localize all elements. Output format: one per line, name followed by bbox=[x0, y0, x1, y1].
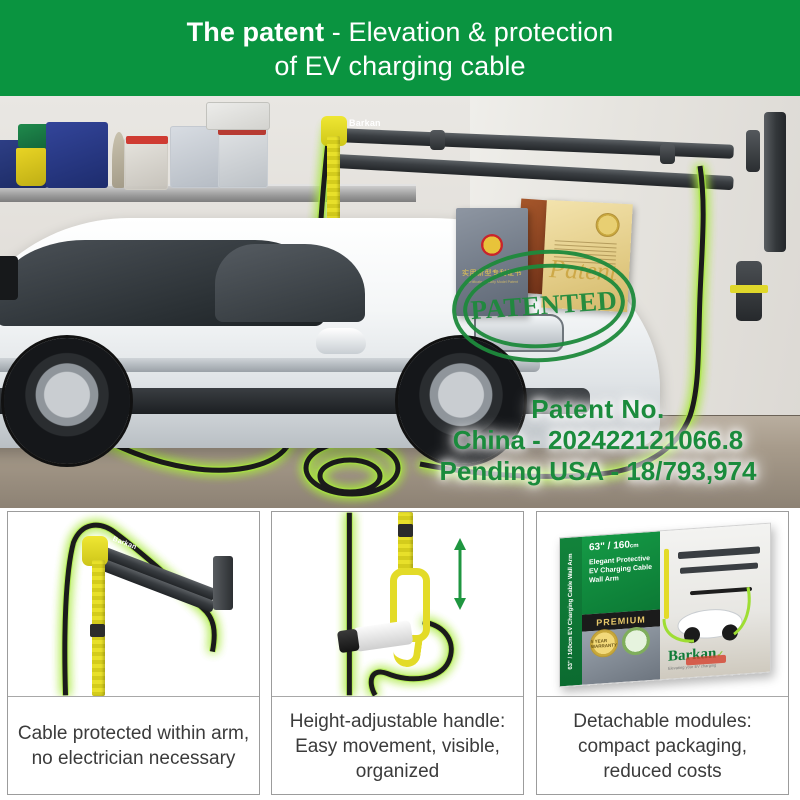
box-product-title: Elegant Protective EV Charging Cable Wal… bbox=[589, 554, 657, 586]
panel-2-image bbox=[272, 512, 523, 696]
patented-stamp-inner: PATENTED bbox=[460, 258, 628, 354]
china-emblem-icon bbox=[481, 234, 503, 256]
panel-3-caption: Detachable modules: compact packaging, r… bbox=[537, 698, 788, 794]
panel-1-wall-mount bbox=[213, 556, 233, 610]
panel-1-caption: Cable protected within arm, no electrici… bbox=[8, 698, 259, 794]
box-spine-text: 63" / 160cm EV Charging Cable Wall Arm bbox=[568, 553, 574, 670]
product-box: 63" / 160cm EV Charging Cable Wall Arm 6… bbox=[559, 523, 771, 688]
header-title-line1: The patent - Elevation & protection bbox=[187, 15, 614, 49]
header-banner: The patent - Elevation & protection of E… bbox=[0, 0, 800, 96]
clip-strap bbox=[730, 285, 768, 293]
patent-line-2: China - 202422121066.8 bbox=[400, 425, 796, 456]
feature-panels: Barkan Cable protected within arm, no el… bbox=[0, 508, 800, 800]
panel-1-image: Barkan bbox=[8, 512, 259, 696]
panel-2-connector-tip bbox=[337, 629, 360, 654]
feature-panel-3: 63" / 160cm EV Charging Cable Wall Arm 6… bbox=[536, 511, 789, 795]
box-size-imperial: 63" bbox=[589, 541, 605, 553]
box-size-metric: / 160 bbox=[605, 539, 630, 552]
panel-3-divider bbox=[537, 696, 788, 697]
poster-root: The patent - Elevation & protection of E… bbox=[0, 0, 800, 800]
patent-number-block: Patent No. China - 202422121066.8 Pendin… bbox=[400, 394, 796, 487]
header-title-line2: of EV charging cable bbox=[274, 49, 525, 83]
patent-line-3: Pending USA - 18/793,974 bbox=[400, 456, 796, 487]
height-adjust-arrow-icon bbox=[453, 538, 467, 610]
warranty-badge-label: 5 YEAR WARRANTY bbox=[591, 637, 617, 649]
panel-1-divider bbox=[8, 696, 259, 697]
header-title-rest: - Elevation & protection bbox=[324, 17, 613, 47]
panel-2-caption: Height-adjustable handle: Easy movement,… bbox=[272, 698, 523, 794]
car-wheel-rear bbox=[4, 338, 130, 464]
panel-2-strap bbox=[398, 512, 413, 574]
barkan-logo-box: Barkan✓ Elevating your EV charging bbox=[668, 645, 724, 671]
patent-line-1: Patent No. bbox=[400, 394, 796, 425]
box-green-header: 63" / 160cm Elegant Protective EV Chargi… bbox=[582, 531, 660, 614]
us-seal-icon bbox=[595, 212, 620, 237]
panel-3-image: 63" / 160cm EV Charging Cable Wall Arm 6… bbox=[537, 512, 788, 696]
header-title-bold: The patent bbox=[187, 17, 325, 47]
box-size-label: 63" / 160cm bbox=[589, 539, 639, 553]
barkan-leaf-icon: ✓ bbox=[716, 649, 724, 660]
panel-1-strap-buckle bbox=[90, 624, 105, 637]
cable-clip-module bbox=[736, 261, 762, 321]
patented-stamp-label: PATENTED bbox=[470, 285, 619, 326]
car-window-front bbox=[215, 244, 365, 322]
feature-panel-2: Height-adjustable handle: Easy movement,… bbox=[271, 511, 524, 795]
charging-port bbox=[0, 256, 18, 300]
box-spine: 63" / 160cm EV Charging Cable Wall Arm bbox=[560, 537, 582, 687]
car-side-mirror bbox=[316, 328, 366, 354]
panel-2-divider bbox=[272, 696, 523, 697]
panel-2-strap-buckle bbox=[398, 524, 413, 537]
box-size-unit: cm bbox=[630, 543, 639, 550]
feature-panel-1: Barkan Cable protected within arm, no el… bbox=[7, 511, 260, 795]
hero-garage-scene: Barkan bbox=[0, 96, 800, 508]
